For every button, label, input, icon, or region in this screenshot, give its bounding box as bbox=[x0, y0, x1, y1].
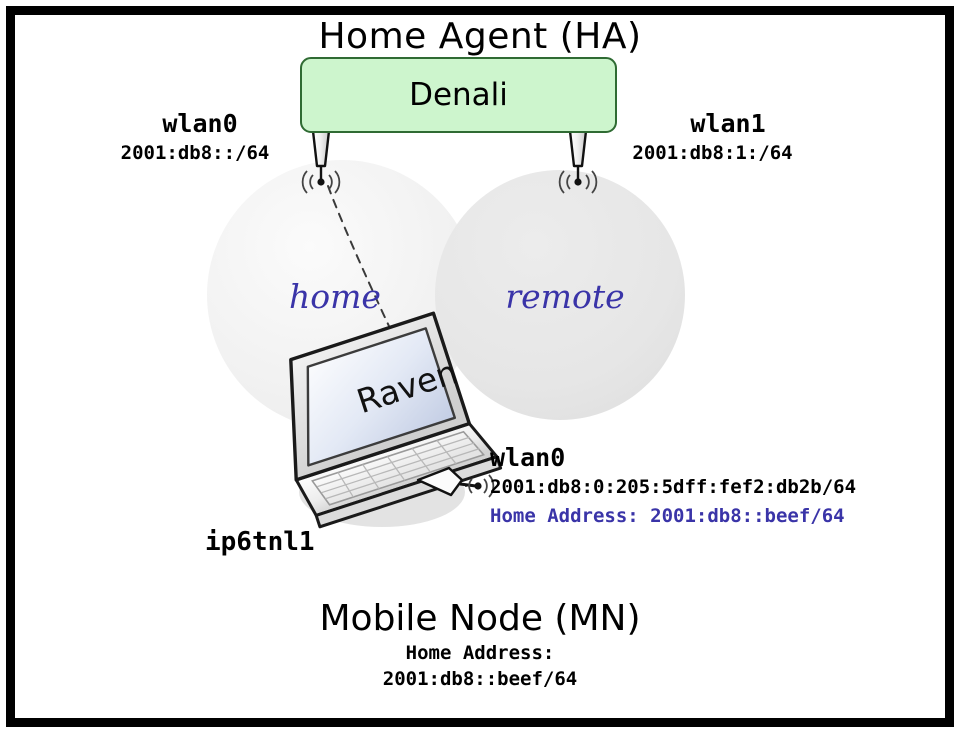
page-title-mobile-node: Mobile Node (MN) bbox=[0, 598, 960, 639]
router-node-label: Denali bbox=[409, 77, 508, 113]
zone-label-remote: remote bbox=[460, 278, 670, 316]
router-node-denali[interactable]: Denali bbox=[300, 57, 617, 133]
interface-label-wlan0-ha: wlan0 bbox=[100, 110, 300, 139]
interface-address-wlan0-mn: 2001:db8:0:205:5dff:fef2:db2b/64 bbox=[490, 477, 856, 499]
page-title-home-agent: Home Agent (HA) bbox=[0, 16, 960, 57]
home-address-inline-mn: Home Address: 2001:db8::beef/64 bbox=[490, 506, 845, 528]
interface-label-wlan0-mn: wlan0 bbox=[490, 444, 565, 473]
interface-label-wlan1-ha: wlan1 bbox=[628, 110, 828, 139]
interface-address-wlan1-ha: 2001:db8:1:/64 bbox=[600, 143, 825, 165]
zone-label-home: home bbox=[230, 278, 440, 316]
home-address-value-mn: 2001:db8::beef/64 bbox=[0, 669, 960, 691]
diagram-canvas: Home Agent (HA) Denali wlan0 2001:db8::/… bbox=[0, 0, 960, 733]
tunnel-interface-label: ip6tnl1 bbox=[205, 528, 315, 558]
home-address-label-mn: Home Address: bbox=[0, 643, 960, 665]
interface-address-wlan0-ha: 2001:db8::/64 bbox=[90, 143, 300, 165]
